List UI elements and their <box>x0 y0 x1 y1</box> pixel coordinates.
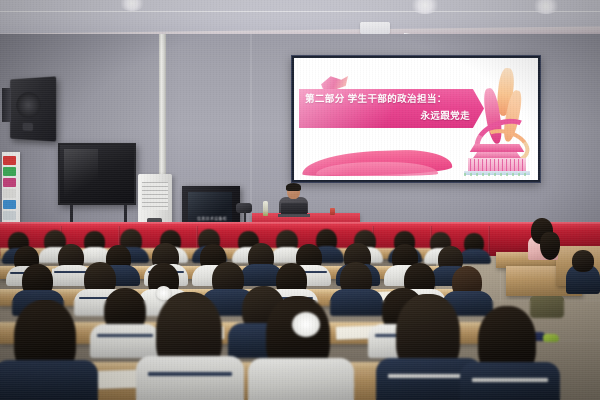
projection-screen: 第二部分 学生干部的政治担当： 永远跟党走 <box>291 55 541 183</box>
slide-surface: 第二部分 学生干部的政治担当： 永远跟党走 <box>294 58 538 180</box>
loudspeaker-icon <box>10 76 56 141</box>
presenter-hair <box>286 183 301 191</box>
gate-landscaping <box>464 173 530 176</box>
speaker-mount-bracket <box>2 88 11 122</box>
student-shoulders <box>330 289 383 316</box>
party-emblem-badge-icon <box>320 75 348 91</box>
lecture-hall-photo: 信息技术设备柜 第二部分 学生干部的政治担当： 永远跟党走 <box>0 0 600 400</box>
notice-swatch <box>3 200 16 209</box>
wall-display-monitor[interactable] <box>58 143 136 205</box>
tiananmen-gate-icon <box>464 142 530 176</box>
notice-swatch <box>3 156 16 165</box>
uniform-stripe <box>97 334 153 337</box>
uniform-stripe <box>148 372 232 376</box>
notice-swatch <box>3 178 16 187</box>
speaker-tweeter-icon <box>23 123 33 131</box>
drape-fold <box>488 226 490 256</box>
gate-roof <box>466 144 528 152</box>
cup-icon <box>330 208 335 215</box>
uniform-stripe <box>388 374 470 378</box>
laptop-base <box>278 214 310 217</box>
side-person-legs <box>530 296 564 318</box>
uniform-stripe <box>472 378 548 382</box>
slide-title-line2: 永远跟党走 <box>305 108 470 122</box>
student-shoulders <box>0 360 98 400</box>
hair-scrunchie <box>292 312 320 337</box>
wall-panel-seam <box>250 34 252 206</box>
notice-swatch <box>3 167 16 176</box>
student-shoulders <box>136 356 244 400</box>
side-person-2-head <box>572 250 594 272</box>
side-person-hair <box>540 232 560 260</box>
student-shoulders <box>248 358 354 400</box>
notice-swatch <box>3 211 16 220</box>
speaker-cone-icon <box>16 92 40 118</box>
wall-conduit-pipe <box>159 34 166 176</box>
shoe-icon <box>543 334 559 342</box>
gate-columns <box>470 159 524 171</box>
student-shoulders <box>90 324 160 358</box>
slide-title-line1: 第二部分 学生干部的政治担当： <box>305 91 477 105</box>
ac-vent-grille-icon <box>142 182 168 210</box>
notice-swatch <box>3 189 16 198</box>
ceiling-seam <box>0 11 600 12</box>
screen-reflection <box>64 149 98 201</box>
water-bottle-icon <box>263 201 268 216</box>
projector-mount-icon <box>360 22 390 34</box>
